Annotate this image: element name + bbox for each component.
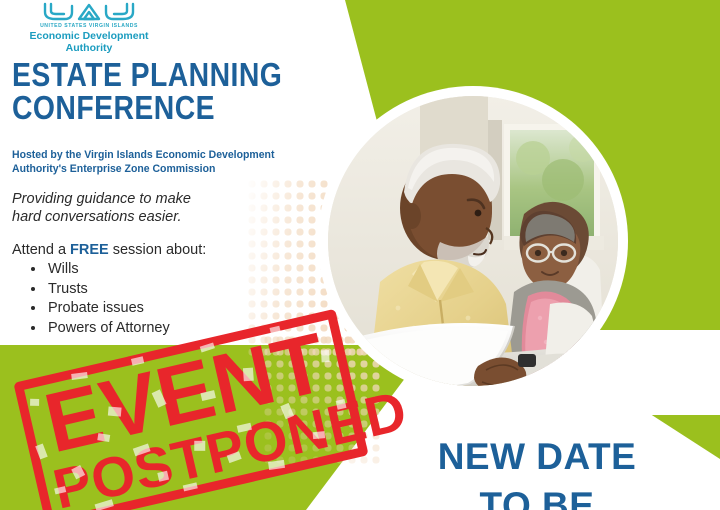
logo-organization: Economic Development Authority	[14, 31, 164, 54]
attend-suffix: session about:	[109, 242, 207, 258]
photo-illustration	[328, 96, 618, 386]
eda-logo: UNITED STATES VIRGIN ISLANDS Economic De…	[14, 2, 164, 54]
photo-older-couple	[328, 96, 618, 386]
attend-line: Attend a FREE session about:	[12, 241, 206, 259]
free-highlight: FREE	[70, 242, 109, 258]
flyer-canvas: UNITED STATES VIRGIN ISLANDS Economic De…	[0, 0, 720, 510]
list-item: Trusts	[46, 280, 170, 300]
logo-jurisdiction: UNITED STATES VIRGIN ISLANDS	[14, 23, 164, 29]
page-title: ESTATE PLANNING CONFERENCE	[12, 58, 282, 124]
list-item: Wills	[46, 260, 170, 280]
eda-logo-mark-icon	[41, 2, 137, 22]
list-item: Probate issues	[46, 299, 170, 319]
new-date-text: NEW DATE TO BE ANNOUNCED	[356, 432, 718, 510]
tagline-text: Providing guidance to make hard conversa…	[12, 191, 262, 226]
hosted-by-text: Hosted by the Virgin Islands Economic De…	[12, 148, 279, 176]
attend-prefix: Attend a	[12, 242, 70, 258]
topics-list: Wills Trusts Probate issues Powers of At…	[28, 260, 170, 338]
list-item: Powers of Attorney	[46, 319, 170, 339]
